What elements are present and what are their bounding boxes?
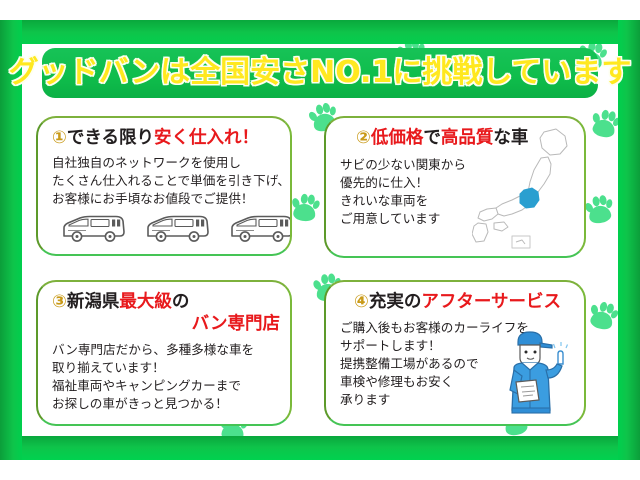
feature-1-body-line: たくさん仕入れることで単価を引き下げ、 bbox=[52, 172, 290, 190]
feature-3-body-line: バン専門店だから、多種多様な車を bbox=[52, 341, 290, 359]
feature-1-body-line: 自社独自のネットワークを使用し bbox=[52, 154, 290, 172]
feature-1-heading: ①できる限り安く仕入れ！ bbox=[52, 128, 290, 148]
paw-print-icon bbox=[587, 105, 618, 141]
feature-1-body-line: お客様にお手頃なお値段でご提供！ bbox=[52, 190, 290, 208]
feature-3-heading-plain-1: 新潟県 bbox=[67, 292, 120, 312]
feature-3-body: バン専門店だから、多種多様な車を 取り揃えています！ 福祉車両やキャンピングカー… bbox=[52, 341, 290, 413]
feature-3-heading-highlight: 最大級 bbox=[119, 292, 172, 312]
feature-3-heading-line1: ③新潟県最大級の bbox=[52, 292, 290, 312]
feature-1-heading-highlight: 安く仕入れ！ bbox=[154, 128, 259, 148]
feature-1-heading-plain: できる限り bbox=[67, 128, 154, 148]
feature-4-heading-plain: 充実の bbox=[369, 292, 422, 312]
feature-4-heading: ④充実のアフターサービス bbox=[340, 292, 584, 312]
feature-3-heading-line2: バン専門店 bbox=[52, 314, 290, 334]
headline-text: グッドバンは全国安さNO.1に挑戦しています bbox=[9, 58, 632, 88]
feature-3-number: ③ bbox=[52, 292, 67, 312]
advertisement-banner: グッドバンは全国安さNO.1に挑戦しています ①できる限り安く仕入れ！ 自社独自… bbox=[0, 0, 640, 480]
feature-3-body-line: 福祉車両やキャンピングカーまで bbox=[52, 377, 290, 395]
feature-box-1: ①できる限り安く仕入れ！ 自社独自のネットワークを使用し たくさん仕入れることで… bbox=[36, 116, 292, 256]
feature-2-heading-plain-1: で bbox=[423, 128, 441, 148]
feature-3-body-line: お探しの車がきっと見つかる！ bbox=[52, 395, 290, 413]
feature-3-heading-line2-highlight: バン専門店 bbox=[192, 314, 280, 334]
feature-3-heading-plain-2: の bbox=[172, 292, 190, 312]
van-icon bbox=[60, 214, 126, 246]
mechanic-illustration bbox=[496, 324, 578, 420]
feature-3-body-line: 取り揃えています！ bbox=[52, 359, 290, 377]
feature-box-3: ③新潟県最大級の バン専門店 バン専門店だから、多種多様な車を 取り揃えています… bbox=[36, 280, 292, 426]
headline-banner: グッドバンは全国安さNO.1に挑戦しています bbox=[42, 48, 598, 98]
feature-4-heading-highlight: アフターサービス bbox=[421, 292, 561, 312]
van-icon bbox=[144, 214, 210, 246]
kanto-region-highlight bbox=[520, 188, 539, 208]
paw-print-icon bbox=[582, 192, 617, 227]
van-icon bbox=[228, 214, 292, 246]
feature-2-number: ② bbox=[356, 128, 371, 148]
paw-print-icon bbox=[585, 297, 618, 333]
feature-box-4: ④充実のアフターサービス ご購入後もお客様のカーライフを サポートします！ 提携… bbox=[324, 280, 586, 426]
japan-map-icon bbox=[472, 124, 580, 252]
feature-4-number: ④ bbox=[354, 292, 369, 312]
feature-1-number: ① bbox=[52, 128, 67, 148]
feature-2-heading-highlight-1: 低価格 bbox=[371, 128, 424, 148]
frame-bottom-bar bbox=[0, 432, 640, 460]
van-illustration-row bbox=[60, 214, 292, 246]
feature-box-2: ②低価格で高品質な車 サビの少ない関東から 優先的に仕入！ きれいな車両を ご用… bbox=[324, 116, 586, 258]
feature-1-body: 自社独自のネットワークを使用し たくさん仕入れることで単価を引き下げ、 お客様に… bbox=[52, 154, 290, 208]
paw-print-icon bbox=[289, 191, 322, 224]
